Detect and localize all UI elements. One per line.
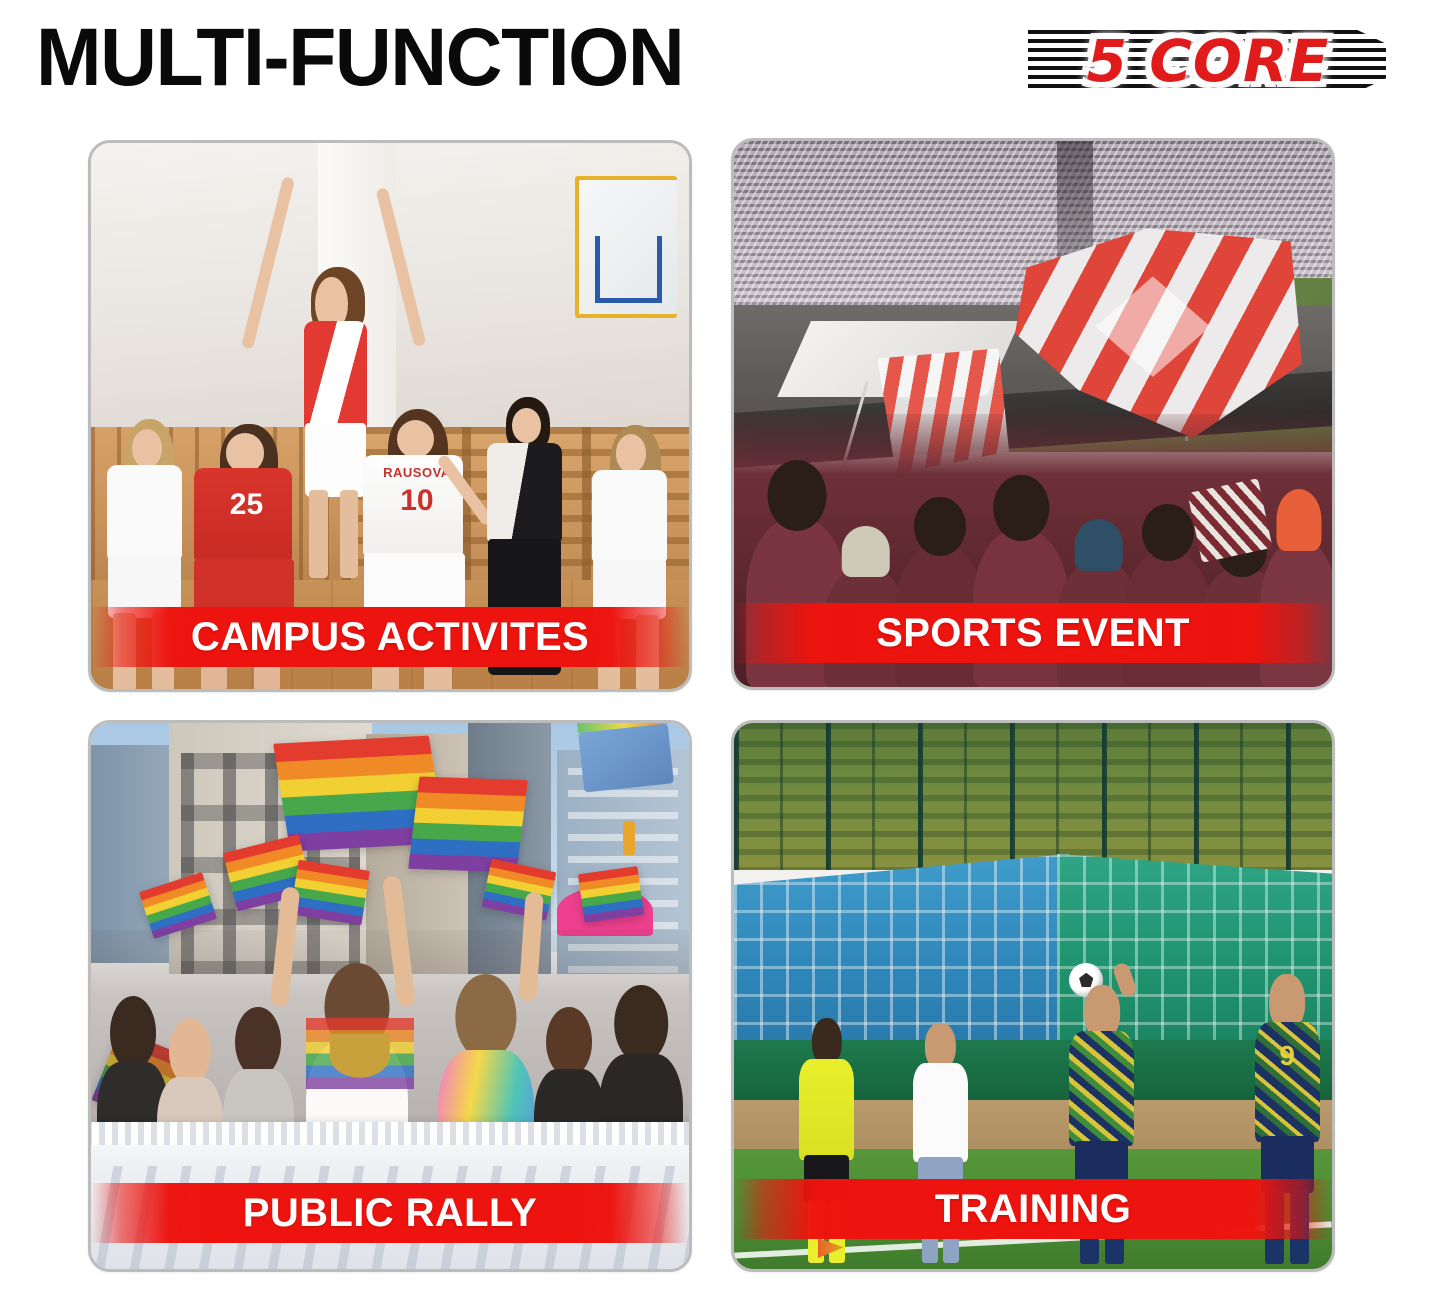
- basketball-backboard-icon: [575, 176, 677, 318]
- supporter-head: [767, 460, 826, 531]
- brand-name: 5 CORE: [1058, 24, 1358, 98]
- perimeter-fence: [734, 723, 1332, 870]
- supporter-cap-icon: [1074, 519, 1123, 572]
- card-campus-activities[interactable]: 25 RAUSOVA 10: [88, 140, 692, 692]
- participant-head: [169, 1018, 211, 1085]
- referee-shirt: [799, 1059, 854, 1160]
- player-jersey: [107, 465, 182, 558]
- caption-banner-campus-activities: CAMPUS ACTIVITES: [91, 607, 689, 667]
- jersey-number: 9: [1248, 1042, 1326, 1070]
- player-leg: [309, 490, 327, 578]
- infographic-page: MULTI-FUNCTION 5 CORE: [0, 0, 1440, 1295]
- jersey-number: 25: [187, 490, 307, 520]
- card-public-rally[interactable]: PUBLIC RALLY: [88, 720, 692, 1272]
- coach-shirt: [913, 1063, 968, 1162]
- player-jersey: [304, 321, 367, 429]
- caption-label: TRAINING: [935, 1187, 1132, 1231]
- referee-head: [512, 408, 541, 443]
- card-training[interactable]: 9 TRAINING: [731, 720, 1335, 1272]
- player-head: [616, 434, 646, 472]
- participant-head: [614, 985, 668, 1063]
- supporter-head: [914, 497, 966, 557]
- caption-banner-sports-event: SPORTS EVENT: [734, 603, 1332, 663]
- header: MULTI-FUNCTION 5 CORE: [0, 0, 1440, 128]
- supporter-head: [993, 475, 1048, 541]
- page-title: MULTI-FUNCTION: [36, 14, 683, 102]
- rainbow-flag-icon: [408, 776, 527, 872]
- player-head: [132, 429, 162, 468]
- player-shirt: [1069, 1031, 1134, 1146]
- supporter-scarf-icon: [1188, 478, 1273, 562]
- caption-banner-training: TRAINING: [734, 1179, 1332, 1239]
- rally-banner-sign: [578, 724, 673, 793]
- caption-banner-public-rally: PUBLIC RALLY: [91, 1183, 689, 1243]
- participant-head: [546, 1007, 592, 1078]
- player-jersey: [592, 470, 667, 561]
- participant-head: [455, 974, 516, 1059]
- supporter-cap-icon: [1277, 489, 1322, 551]
- rainbow-flag-icon: [290, 860, 369, 925]
- card-grid: 25 RAUSOVA 10: [0, 128, 1440, 1295]
- five-core-logo-icon: 5 CORE: [1028, 22, 1386, 100]
- player-head: [226, 433, 264, 472]
- caption-label: SPORTS EVENT: [876, 611, 1190, 655]
- caption-label: CAMPUS ACTIVITES: [191, 615, 589, 659]
- participant-head: [235, 1007, 281, 1078]
- supporter-head: [1142, 504, 1194, 561]
- supporter-cap-icon: [841, 526, 890, 576]
- caption-label: PUBLIC RALLY: [243, 1191, 537, 1235]
- card-sports-event[interactable]: SPORTS EVENT: [731, 138, 1335, 690]
- traffic-light-icon: [623, 821, 635, 855]
- rainbow-flag-icon: [578, 866, 644, 923]
- referee-shirt: [487, 443, 562, 541]
- participant-head: [110, 996, 156, 1070]
